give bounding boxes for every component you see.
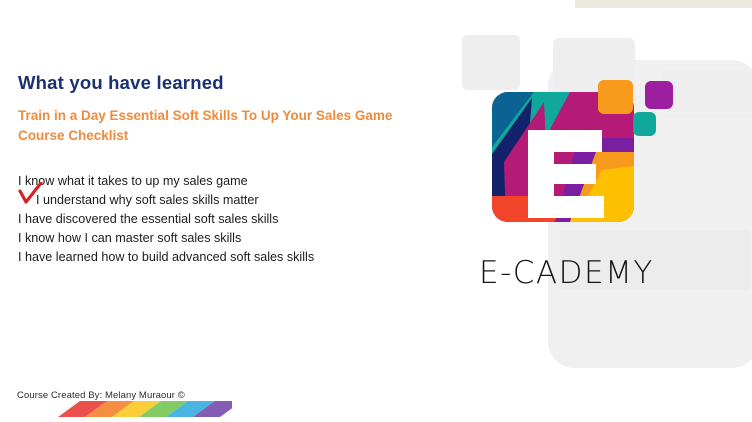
checklist-item[interactable]: I have discovered the essential soft sal…	[18, 210, 418, 229]
orange-square-icon	[598, 80, 633, 114]
background-panel-small-right	[663, 70, 752, 118]
checklist: I know what it takes to up my sales game…	[18, 172, 418, 267]
page-title: What you have learned	[18, 72, 224, 94]
checklist-item[interactable]: I understand why soft sales skills matte…	[18, 191, 418, 210]
slide-canvas: What you have learned Train in a Day Ess…	[0, 0, 752, 422]
purple-square-icon	[645, 81, 673, 109]
top-accent-bar	[575, 0, 752, 8]
page-subtitle: Train in a Day Essential Soft Skills To …	[18, 106, 418, 146]
rainbow-brushstroke	[52, 398, 232, 420]
background-panel-small-left	[462, 35, 520, 90]
brand-name: E-CADEMY	[479, 255, 654, 291]
checklist-item[interactable]: I know what it takes to up my sales game	[18, 172, 418, 191]
checklist-item[interactable]: I have learned how to build advanced sof…	[18, 248, 418, 267]
checklist-item[interactable]: I know how I can master soft sales skill…	[18, 229, 418, 248]
teal-square-icon	[633, 112, 656, 136]
